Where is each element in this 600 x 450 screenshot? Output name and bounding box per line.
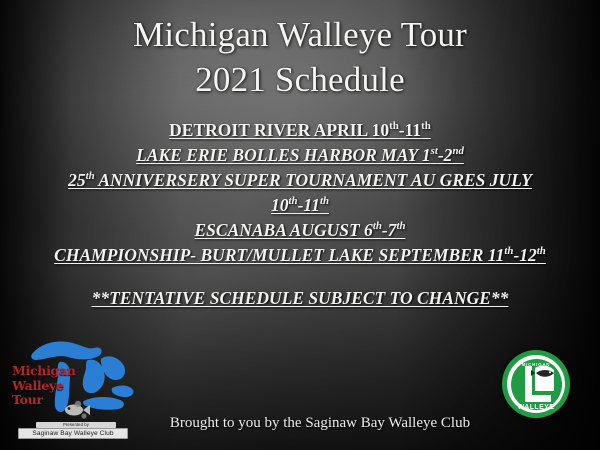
ordinal-suffix: th bbox=[537, 245, 546, 257]
tentative-schedule-disclaimer: **TENTATIVE SCHEDULE SUBJECT TO CHANGE** bbox=[0, 288, 600, 309]
schedule-text: ESCANABA AUGUST 6 bbox=[195, 220, 373, 240]
walleye-badge-logo: MICHIGAN WALLEYE bbox=[502, 350, 570, 418]
ordinal-suffix: th bbox=[86, 170, 95, 182]
schedule-text: 25 bbox=[68, 170, 86, 190]
club-name-banner: Saginaw Bay Walleye Club bbox=[18, 428, 128, 439]
walleye-tour-schedule-poster: Michigan Walleye Tour 2021 Schedule DETR… bbox=[0, 0, 600, 450]
schedule-item-championship: CHAMPIONSHIP- BURT/MULLET LAKE SEPTEMBER… bbox=[8, 243, 592, 268]
mwt-wordmark: Michigan Walleye Tour bbox=[12, 364, 74, 408]
ordinal-suffix: nd bbox=[452, 145, 463, 157]
title-line-1: Michigan Walleye Tour bbox=[0, 12, 600, 57]
badge-word-label: WALLEYE bbox=[502, 404, 570, 411]
ordinal-suffix: th bbox=[421, 120, 431, 132]
schedule-text: 10 bbox=[271, 195, 289, 215]
schedule-text-mid: -7 bbox=[382, 220, 397, 240]
title-line-2: 2021 Schedule bbox=[0, 57, 600, 102]
ordinal-suffix: st bbox=[431, 145, 438, 157]
michigan-walleye-tour-logo: Michigan Walleye Tour Presented by Sagin… bbox=[8, 338, 134, 446]
schedule-text-mid: ANNIVERSERY SUPER TOURNAMENT AU GRES JUL… bbox=[95, 170, 532, 190]
poster-title: Michigan Walleye Tour 2021 Schedule bbox=[0, 12, 600, 102]
ordinal-suffix: th bbox=[396, 220, 405, 232]
club-name-label: Saginaw Bay Walleye Club bbox=[19, 429, 127, 438]
schedule-text-mid: -2 bbox=[438, 145, 453, 165]
schedule-text-mid: -11 bbox=[399, 120, 421, 140]
mwt-wordmark-line-2: Walleye bbox=[12, 379, 74, 394]
ordinal-suffix: th bbox=[289, 195, 298, 207]
schedule-item-detroit-river: DETROIT RIVER APRIL 10th-11th bbox=[8, 118, 592, 143]
schedule-item-escanaba: ESCANABA AUGUST 6th-7th bbox=[8, 218, 592, 243]
ordinal-suffix: th bbox=[320, 195, 329, 207]
schedule-text-mid: -11 bbox=[298, 195, 320, 215]
schedule-text: DETROIT RIVER APRIL 10 bbox=[169, 120, 389, 140]
schedule-list: DETROIT RIVER APRIL 10th-11th LAKE ERIE … bbox=[8, 118, 592, 268]
schedule-text: CHAMPIONSHIP- BURT/MULLET LAKE SEPTEMBER… bbox=[54, 245, 504, 265]
schedule-item-au-gres-line2: 10th-11th bbox=[8, 193, 592, 218]
ordinal-suffix: th bbox=[389, 120, 399, 132]
schedule-text-mid: -12 bbox=[513, 245, 536, 265]
brought-to-you-by-credit: Brought to you by the Saginaw Bay Walley… bbox=[140, 415, 500, 432]
badge-arc-label: MICHIGAN bbox=[502, 362, 570, 367]
mwt-wordmark-line-1: Michigan bbox=[12, 364, 74, 379]
schedule-item-au-gres-line1: 25th ANNIVERSERY SUPER TOURNAMENT AU GRE… bbox=[8, 168, 592, 193]
presented-by-label: Presented by bbox=[36, 422, 116, 428]
schedule-item-lake-erie: LAKE ERIE BOLLES HARBOR MAY 1st-2nd bbox=[8, 143, 592, 168]
ordinal-suffix: th bbox=[373, 220, 382, 232]
schedule-text: LAKE ERIE BOLLES HARBOR MAY 1 bbox=[136, 145, 431, 165]
mwt-wordmark-line-3: Tour bbox=[12, 393, 74, 408]
